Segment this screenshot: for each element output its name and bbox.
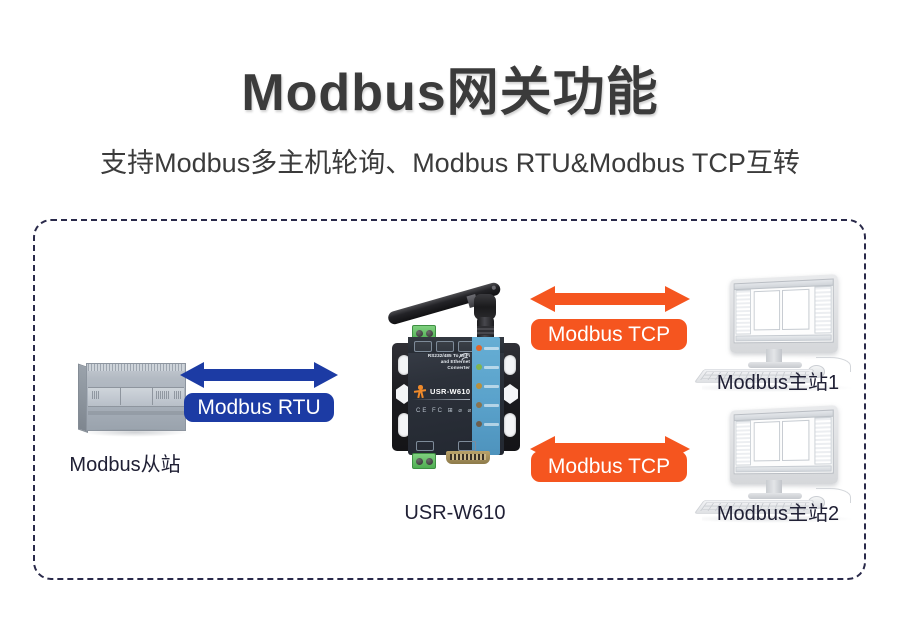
arrow-modbus-tcp-1 [530, 284, 690, 314]
caption-gateway: USR-W610 [370, 502, 540, 525]
badge-modbus-tcp-1: Modbus TCP [531, 319, 687, 350]
arrow-modbus-rtu [180, 360, 338, 390]
page-subtitle: 支持Modbus多主机轮询、Modbus RTU&Modbus TCP互转 [0, 141, 900, 180]
brand-line-3: Converter [414, 365, 470, 371]
led-indicator-panel [472, 337, 500, 455]
caption-modbus-master-2: Modbus主站2 [690, 497, 866, 526]
page-title: Modbus网关功能 [0, 50, 900, 125]
usr-logo-icon [414, 385, 426, 398]
device-brand-text: RS232/485 To WiFi and Ethernet Converter [414, 353, 470, 371]
badge-modbus-rtu: Modbus RTU [184, 393, 334, 422]
device-model-label: USR-W610 [430, 387, 470, 396]
caption-modbus-master-1: Modbus主站1 [690, 366, 866, 395]
plc-device-icon [78, 363, 186, 435]
badge-modbus-tcp-2: Modbus TCP [531, 451, 687, 482]
diagram-canvas: Modbus网关功能 支持Modbus多主机轮询、Modbus RTU&Modb… [0, 0, 900, 618]
caption-modbus-slave: Modbus从站 [40, 448, 210, 477]
certification-marks: CE FC ⊞ ⌀ ⌀ [416, 407, 473, 414]
serial-wifi-converter-icon: RS232/485 To WiFi and Ethernet Converter… [386, 281, 526, 481]
